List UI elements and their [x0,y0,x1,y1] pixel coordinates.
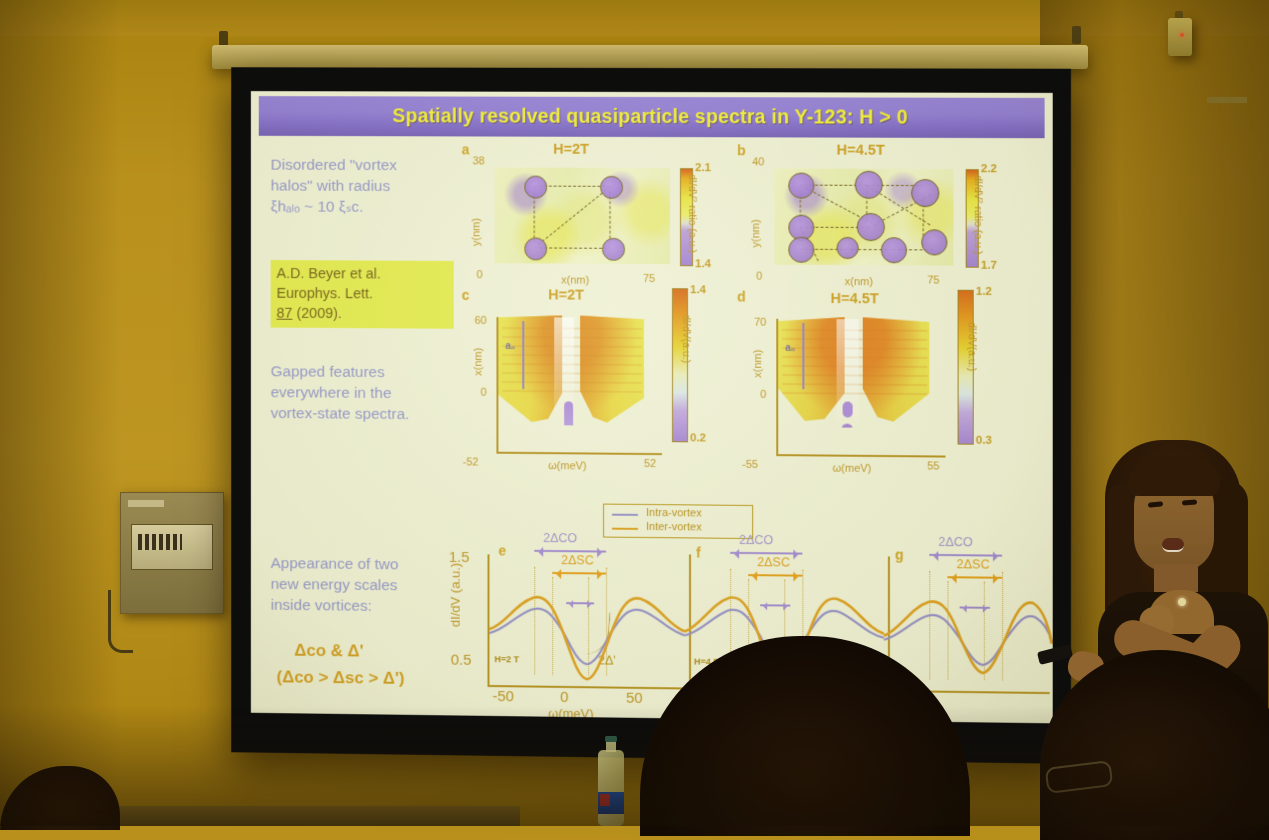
panel-b-ytick-max: 40 [752,156,764,168]
panel-b-xlabel: x(nm) [845,276,873,288]
bullet-gapped: Gapped features everywhere in the vortex… [271,361,464,425]
panel-b-title: H=4.5T [837,143,885,159]
vortex-marker [788,237,814,263]
panel-b-label: b [737,142,746,158]
breaker-panel-label [128,500,164,507]
panel-e-xtick-pos: 50 [626,690,643,707]
panel-c-colorbar-min: 0.2 [690,432,706,444]
panel-d-ylabel: x(nm) [752,350,764,378]
citation-authors: A.D. Beyer et al. [277,264,448,285]
panel-c-ytick-max: 60 [475,315,487,327]
foreground-shadow [0,706,1269,826]
panel-d-inset-label: a₀ [785,343,795,354]
curve-inter-vortex [489,597,685,681]
panel-a-colorbar-max: 2.1 [695,162,711,174]
panel-c-label: c [462,287,470,303]
panel-c-colorbar-max: 1.4 [690,284,706,296]
panel-c-inset-label: a₀ [505,341,515,352]
panel-a-colorbar-label: dI/dV² ratio (a.u.) [686,174,698,253]
legend-label-intra: Intra-vortex [646,507,702,520]
screen-bracket-right [1072,26,1081,44]
panel-e-annot-co: 2ΔCO [543,531,577,545]
wall-sensor-device [1168,18,1192,56]
panel-d-colorbar-min: 0.3 [976,435,992,447]
status-led-icon [1180,33,1184,37]
panel-c-colorbar [672,288,688,442]
vortex-marker [788,173,814,199]
panel-c-colorbar-label: dI/dV(a.u.) [680,314,692,363]
bullet-halos: Disordered "vortex halos" with radius ξh… [271,155,459,218]
panel-e-curves [487,545,689,689]
panel-c-xtick-max: 52 [644,458,656,470]
panel-c-ylabel: x(nm) [473,348,485,376]
vortex-marker [911,179,939,207]
panel-d-waterfall: a₀ [778,317,945,429]
equation-delta-ordering: (Δco > Δsc > Δ') [277,667,405,689]
panel-a-ytick-min: 0 [477,269,483,281]
presenter-necklace [1178,598,1186,606]
legend-swatch-intra [612,514,638,516]
projector-screen: Spatially resolved quasiparticle spectra… [231,67,1071,764]
vortex-marker [837,237,859,259]
panel-d-colorbar-label: dI/dV(a.u.) [966,322,978,371]
panel-d-xtick-max: 55 [927,460,939,472]
a0-arrow-icon [522,321,524,389]
panel-d-colorbar-max: 1.2 [976,286,992,298]
panel-c-title: H=2T [548,287,584,303]
vortex-marker [921,229,947,255]
panel-c-ytick-min: 0 [481,387,487,399]
vortex-marker [600,176,623,199]
panel-b-ytick-min: 0 [756,271,762,283]
legend-swatch-inter [612,528,638,530]
vortex-marker [524,237,547,260]
breaker-switch-row [138,534,182,550]
panel-d-ytick-min: 0 [760,389,766,401]
vortex-marker [881,237,907,263]
panel-d-title: H=4.5T [831,291,879,307]
citation-journal: Europhys. Lett. [277,284,448,305]
panel-a-colorbar-min: 1.4 [695,258,711,270]
panel-a-ylabel: y(nm) [471,218,483,246]
roller-brand-tag [1207,97,1247,103]
spectra-zero-bias-peak [843,401,853,417]
projector-screen-surface: Spatially resolved quasiparticle spectra… [251,91,1053,723]
panel-e-ylabel: dI/dV (a.u.) [449,552,462,638]
a0-arrow-icon [802,323,804,389]
page-title: Spatially resolved quasiparticle spectra… [393,105,908,129]
legend-label-inter: Inter-vortex [646,521,702,534]
panel-a-title: H=2T [553,142,589,158]
panel-a-label: a [462,141,470,157]
panel-b-colorbar-max: 2.2 [981,163,997,175]
panel-c-xaxis [496,452,662,455]
wall-cable [108,590,133,653]
bullet-energy-scales: Appearance of two new energy scales insi… [271,553,464,618]
presentation-slide: Spatially resolved quasiparticle spectra… [251,91,1053,723]
panel-d-label: d [737,289,746,305]
panel-g-annot-co: 2ΔCO [938,535,972,549]
wall-left-shading [0,0,120,826]
panel-d-xtick-min: -55 [742,459,758,471]
equation-delta-co-and-prime: Δco & Δ' [294,641,363,662]
spectra-zero-bias-peak [564,401,573,426]
panel-b-heatmap [774,168,953,265]
panel-a-ytick-max: 38 [473,155,485,167]
projector-screen-roller [212,45,1088,69]
citation-volume: 87 [277,306,293,322]
panel-e-xtick-neg: -50 [492,688,514,705]
vortex-marker [855,171,883,199]
panel-b-colorbar-min: 1.7 [981,260,997,272]
panel-b-ylabel: y(nm) [750,219,762,247]
spectra-legend: Intra-vortex Inter-vortex [603,504,753,539]
panel-f-annot-co: 2ΔCO [739,533,773,547]
panel-a-xlabel: x(nm) [561,275,589,287]
panel-d-ytick-max: 70 [754,317,766,329]
curve-intra-vortex [489,608,685,665]
panel-d-xlabel: ω(meV) [833,463,872,475]
panel-e-xtick-zero: 0 [560,689,568,706]
panel-c-xtick-min: -52 [463,456,479,468]
panel-a-xtick-max: 75 [643,273,655,285]
vortex-marker [602,238,625,261]
slide-title-bar: Spatially resolved quasiparticle spectra… [259,96,1045,138]
presenter-fringe [1128,456,1220,496]
panel-a-heatmap [494,167,670,264]
panel-d-xaxis [776,454,945,457]
lecture-room-background: Spatially resolved quasiparticle spectra… [0,0,1269,826]
panel-a-heatmap-field [494,167,670,264]
vortex-marker [857,213,885,241]
panel-b-colorbar-label: dI/dV² ratio (a.u.) [972,175,984,254]
panel-c-xlabel: ω(meV) [548,460,586,472]
vortex-marker [524,176,547,199]
citation-year: (2009). [296,306,341,322]
spectra-zero-bias-peak-lower [842,424,853,429]
citation-box: A.D. Beyer et al. Europhys. Lett. 87 (20… [271,260,454,329]
panel-c-waterfall: a₀ [498,315,662,426]
presenter-mouth [1162,538,1184,552]
panel-e-ytick-min: 0.5 [451,652,472,669]
curve-inter-vortex [884,601,1052,674]
citation-volume-year: 87 (2009). [277,304,448,325]
presenter-eye-right [1182,499,1197,505]
panel-b-xtick-max: 75 [927,275,939,287]
curve-intra-vortex [884,614,1052,665]
